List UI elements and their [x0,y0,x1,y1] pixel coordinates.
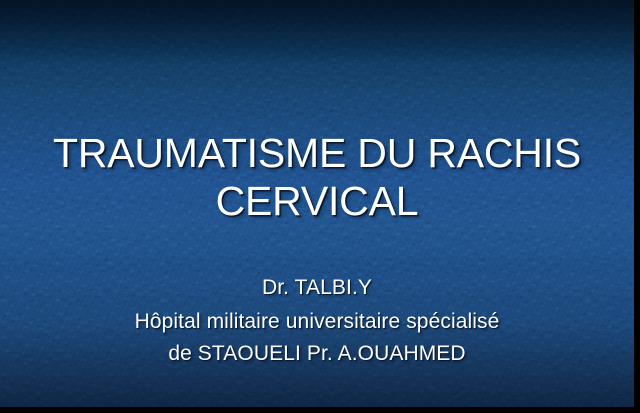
slide-subtitle-institution-line-2: de STAOUELI Pr. A.OUAHMED [0,343,634,364]
slide-canvas: TRAUMATISME DU RACHIS CERVICAL Dr. TALBI… [0,0,634,407]
slide-title-line-1: TRAUMATISME DU RACHIS [0,133,634,174]
slide-subtitle-author: Dr. TALBI.Y [0,277,634,298]
presentation-slide: TRAUMATISME DU RACHIS CERVICAL Dr. TALBI… [0,0,640,413]
slide-subtitle-institution-line-1: Hôpital militaire universitaire spéciali… [0,311,634,332]
slide-title-line-2: CERVICAL [0,181,634,222]
slide-border-right [634,0,640,413]
slide-border-bottom [0,407,640,413]
slide-content: TRAUMATISME DU RACHIS CERVICAL Dr. TALBI… [0,0,634,407]
